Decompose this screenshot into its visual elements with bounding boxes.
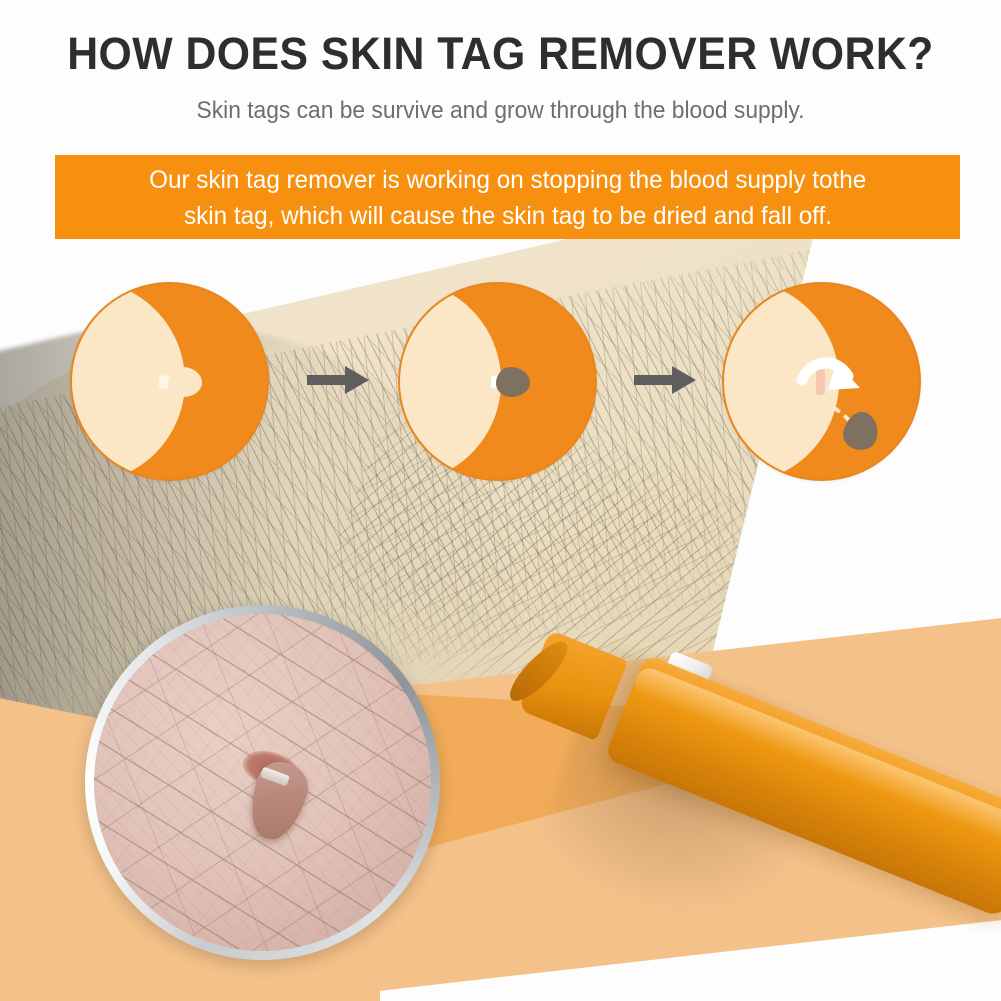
step-arrow-1	[307, 365, 369, 395]
step-arrow-2	[634, 365, 696, 395]
banner-line-2: skin tag, which will cause the skin tag …	[184, 198, 832, 234]
page-subtitle: Skin tags can be survive and grow throug…	[25, 97, 976, 125]
skin-tag-healthy-1	[168, 367, 202, 397]
infographic-stage: HOW DOES SKIN TAG REMOVER WORK? Skin tag…	[0, 0, 1001, 1001]
magnifier-lens-frame	[85, 605, 440, 960]
step-circle-2	[398, 282, 597, 481]
banner-line-1: Our skin tag remover is working on stopp…	[149, 162, 866, 198]
step-circle-3	[722, 282, 921, 481]
magnified-skin-photo	[94, 614, 431, 951]
removal-curved-arrow-icon	[724, 284, 919, 479]
skin-tag-dried-2	[496, 367, 530, 397]
page-title: HOW DOES SKIN TAG REMOVER WORK?	[25, 28, 976, 80]
skin-tag-remover-pen	[590, 612, 1001, 912]
explanation-banner: Our skin tag remover is working on stopp…	[55, 155, 960, 239]
step-circle-1	[70, 282, 269, 481]
skin-cross-section-2	[398, 282, 501, 481]
